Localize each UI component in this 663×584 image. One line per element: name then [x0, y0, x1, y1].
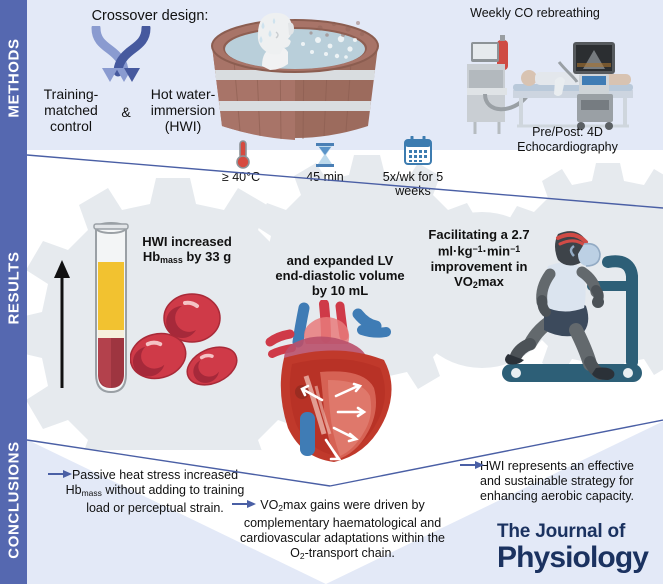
- heart-anatomy-icon: [262, 300, 412, 470]
- arm-label-control: Training-matched control: [28, 86, 114, 134]
- crossover-design-title: Crossover design:: [50, 8, 250, 24]
- conclusion-2-text-a: VO: [260, 498, 278, 512]
- protocol-label-temperature: ≥ 40°C: [205, 170, 277, 184]
- conclusion-item-3: HWI represents an effective and sustaina…: [480, 459, 655, 504]
- result-vo2-units-b: ·min: [483, 244, 510, 259]
- journal-logo-line2: Physiology: [497, 542, 657, 573]
- result-hbmass-suffix: by 33 g: [183, 249, 231, 264]
- conclusion-item-2: VO2max gains were driven by complementar…: [240, 498, 445, 564]
- section-rail: METHODS RESULTS CONCLUSIONS: [0, 0, 27, 584]
- ampersand-label: &: [118, 104, 134, 120]
- result-vo2max-text: Facilitating a 2.7 ml·kg−1·min−1 improve…: [416, 227, 542, 293]
- crossover-arrows-icon: [88, 26, 154, 84]
- hourglass-icon: [314, 142, 336, 168]
- protocol-label-frequency: 5x/wk for 5 weeks: [370, 170, 456, 198]
- calendar-icon: [403, 136, 433, 166]
- section-label-methods: METHODS: [5, 38, 22, 117]
- bullet-arrow-icon-1: [48, 470, 72, 478]
- result-vo2-line4b: max: [478, 274, 504, 289]
- red-blood-cells-icon: [130, 290, 240, 390]
- thermometer-icon: [232, 140, 254, 170]
- co-rebreathing-and-echo-equipment: [455, 22, 655, 142]
- result-hbmass-subscript: mass: [160, 255, 183, 265]
- echocardiography-caption: Pre/Post: 4D Echocardiography: [500, 125, 635, 155]
- result-lv-text: and expanded LV end-diastolic volume by …: [275, 253, 405, 298]
- increase-arrow-icon: [52, 260, 72, 390]
- result-vo2-sup-1: −1: [473, 244, 483, 254]
- result-hbmass-prefix: Hb: [143, 249, 160, 264]
- journal-logo-line1: The Journal of: [497, 521, 657, 542]
- result-hbmass-text: HWI increased Hbmass by 33 g: [127, 234, 247, 268]
- result-vo2-sup-2: −1: [510, 244, 520, 254]
- protocol-label-duration: 45 min: [289, 170, 361, 184]
- arm-label-hwi: Hot water-immersion (HWI): [133, 86, 233, 134]
- conclusion-item-1: Passive heat stress increased Hbmass wit…: [60, 468, 250, 516]
- journal-logo: The Journal of Physiology: [497, 521, 657, 573]
- bullet-arrow-icon-3: [460, 461, 484, 469]
- conclusion-2-text-c: -transport chain.: [305, 546, 395, 560]
- co-rebreathing-title: Weekly CO rebreathing: [455, 6, 615, 20]
- result-hbmass-line1: HWI increased: [142, 234, 232, 249]
- graphical-abstract: METHODS RESULTS CONCLUSIONS Crossover de…: [0, 0, 663, 584]
- result-vo2-line3: improvement in: [431, 259, 528, 274]
- result-vo2-units-a: ml·kg: [438, 244, 473, 259]
- conclusion-1-subscript: mass: [82, 488, 102, 498]
- section-label-results: RESULTS: [5, 251, 22, 324]
- result-vo2-line4a: VO: [454, 274, 473, 289]
- conclusion-1-text-b: without adding to training load or perce…: [86, 483, 244, 515]
- result-vo2-line1: Facilitating a 2.7: [428, 227, 529, 242]
- section-label-conclusions: CONCLUSIONS: [5, 441, 22, 558]
- bullet-arrow-icon-2: [232, 500, 256, 508]
